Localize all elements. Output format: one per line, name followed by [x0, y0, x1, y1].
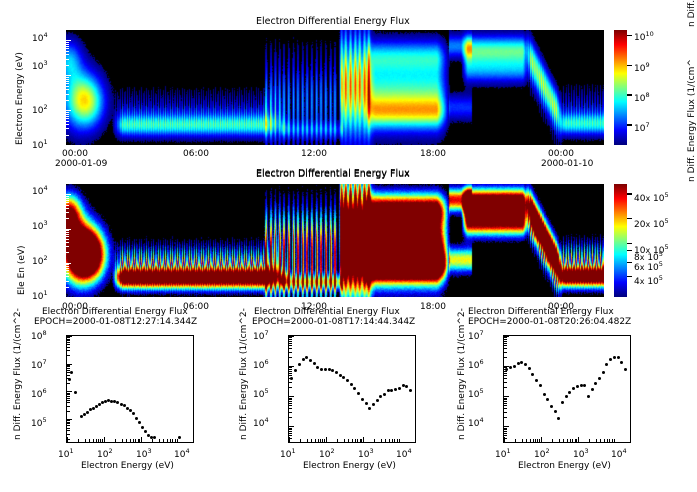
axis-tick [563, 439, 564, 442]
data-point [144, 430, 147, 433]
axis-tick [552, 439, 553, 442]
spectrum-3-subtitle: EPOCH=2000-01-08T20:26:04.482Z [468, 318, 631, 327]
axis-tick [537, 439, 538, 442]
spectrum-3-ytick-7: 107 [468, 330, 484, 342]
colorbar-tick [627, 262, 632, 264]
middle-colorbar [614, 184, 627, 297]
axis-tick [530, 439, 531, 442]
axis-tick [355, 439, 356, 442]
data-point [576, 385, 579, 388]
spectrum-2-subtitle: EPOCH=2000-01-08T17:14:44.344Z [252, 318, 415, 327]
axis-tick [397, 439, 398, 442]
spectrum-1-xtick-4: 104 [174, 448, 190, 460]
data-point [361, 398, 364, 401]
data-point [353, 387, 356, 390]
data-point [376, 399, 379, 402]
axis-tick [289, 408, 292, 409]
colorbar-tick [627, 65, 632, 67]
axis-tick [504, 387, 507, 388]
axis-tick [177, 439, 178, 442]
axis-tick [289, 442, 292, 443]
axis-tick [67, 378, 70, 379]
axis-tick [289, 412, 292, 413]
spectrum-1-ytick-6: 106 [31, 388, 47, 400]
top-xtick-0: 00:00 [62, 150, 88, 159]
data-point [116, 401, 119, 404]
axis-tick [67, 370, 70, 371]
axis-tick [504, 337, 507, 338]
data-point [331, 369, 334, 372]
axis-tick [289, 369, 292, 370]
spectrum-1-title: Electron Differential Energy Flux [42, 308, 188, 317]
top-ytick-3: 103 [32, 60, 48, 72]
data-point [316, 366, 319, 369]
spectrum-2-xtick-1: 101 [280, 448, 296, 460]
spectrum-3-xtick-1: 101 [495, 448, 511, 460]
axis-tick [170, 439, 171, 442]
data-point [583, 384, 586, 387]
axis-tick [67, 391, 72, 392]
data-point [405, 385, 408, 388]
data-point [568, 391, 571, 394]
data-point [554, 410, 557, 413]
spectrum-panel-2: Electron Differential Energy Flux EPOCH=… [232, 300, 464, 492]
axis-tick [67, 398, 70, 399]
data-point [524, 363, 527, 366]
axis-tick [589, 439, 590, 442]
spectrum-2-plot-area [288, 335, 416, 443]
axis-tick [504, 343, 507, 344]
axis-tick [504, 369, 507, 370]
top-xtick-1: 06:00 [183, 150, 209, 159]
top-cbar-tick-8: 108 [634, 92, 650, 104]
top-colorbar-label: n Diff. Energy Flux (1/(cm^ [688, 0, 697, 27]
mid-cbar-tick-40: 40x 105 [634, 192, 669, 204]
data-point [132, 412, 135, 415]
axis-tick [67, 439, 70, 440]
axis-tick [392, 439, 393, 442]
spectrum-1-ytick-5: 105 [31, 417, 47, 429]
axis-tick [67, 430, 70, 431]
data-point [98, 403, 101, 406]
spectrum-3-xtick-2: 102 [534, 448, 550, 460]
axis-tick [67, 347, 70, 348]
axis-tick [357, 439, 358, 442]
axis-tick [600, 439, 601, 442]
axis-tick [163, 439, 164, 442]
axis-tick [289, 382, 292, 383]
data-point [294, 369, 297, 372]
axis-tick [504, 435, 507, 436]
axis-tick [504, 371, 507, 372]
colorbar-tick [627, 124, 632, 126]
axis-tick [67, 342, 70, 343]
colorbar-tick [627, 94, 632, 96]
spectrum-2-ytick-5: 105 [253, 388, 269, 400]
axis-tick [138, 439, 139, 442]
data-point [602, 371, 605, 374]
axis-tick [609, 439, 610, 442]
axis-tick [504, 399, 507, 400]
axis-tick [326, 437, 327, 442]
axis-tick [374, 439, 375, 442]
axis-tick [85, 439, 86, 442]
top-xtick-4: 00:00 [548, 150, 574, 159]
middle-panel-ylabel: Ele En (eV) [18, 245, 27, 295]
spectrum-1-plot-area [66, 335, 194, 443]
data-point [153, 436, 156, 439]
top-ytick-1: 101 [32, 139, 48, 151]
axis-tick [67, 364, 72, 365]
axis-tick [289, 378, 292, 379]
axis-tick [89, 439, 90, 442]
axis-tick [578, 437, 579, 442]
axis-tick [289, 396, 294, 397]
axis-tick [289, 417, 292, 418]
data-point [520, 361, 523, 364]
axis-tick [289, 336, 294, 337]
data-point [546, 398, 549, 401]
data-point [565, 395, 568, 398]
axis-tick [504, 429, 507, 430]
spectrum-3-ytick-5: 105 [468, 388, 484, 400]
axis-tick [67, 344, 70, 345]
top-spectrogram-image [66, 30, 604, 145]
top-colorbar [614, 30, 627, 145]
axis-tick [504, 339, 507, 340]
data-point [383, 393, 386, 396]
axis-tick [289, 435, 292, 436]
axis-tick [67, 350, 70, 351]
data-point [557, 417, 560, 420]
axis-tick [504, 345, 507, 346]
data-point [320, 368, 323, 371]
top-cbar-tick-10: 1010 [634, 31, 654, 43]
colorbar-tick [627, 243, 632, 245]
data-point [74, 391, 77, 394]
spectrum-1-ytick-7: 107 [31, 359, 47, 371]
data-point [368, 407, 371, 410]
data-point [543, 393, 546, 396]
axis-tick [526, 439, 527, 442]
axis-tick [504, 403, 507, 404]
axis-tick [67, 337, 70, 338]
axis-tick [289, 387, 292, 388]
axis-tick [67, 400, 70, 401]
axis-tick [67, 428, 70, 429]
axis-tick [318, 439, 319, 442]
axis-tick [175, 439, 176, 442]
axis-tick [504, 433, 507, 434]
spectrum-3-xtick-3: 103 [573, 448, 589, 460]
top-panel-ylabel: Electron Energy (eV) [16, 52, 25, 145]
axis-tick [394, 439, 395, 442]
axis-tick [67, 422, 70, 423]
axis-tick [385, 439, 386, 442]
axis-tick [504, 336, 509, 337]
axis-tick [67, 423, 70, 424]
axis-tick [289, 352, 292, 353]
spectrum-3-plot-area [503, 335, 631, 443]
spectrum-1-ytick-8: 108 [31, 330, 47, 342]
axis-tick [152, 439, 153, 442]
axis-tick [533, 439, 534, 442]
axis-tick [504, 405, 507, 406]
top-cbar-tick-7: 107 [634, 122, 650, 134]
data-point [70, 371, 73, 374]
axis-tick [504, 438, 507, 439]
middle-colorbar-label: n Diff. Energy Flux (1/(cm^ [688, 59, 697, 182]
axis-tick [535, 439, 536, 442]
data-point [302, 358, 305, 361]
axis-tick [289, 337, 292, 338]
axis-tick [126, 439, 127, 442]
data-point [387, 389, 390, 392]
spectrum-2-xtick-2: 102 [319, 448, 335, 460]
data-point [598, 377, 601, 380]
data-point [394, 388, 397, 391]
middle-spectrogram-image [66, 184, 604, 297]
axis-tick [315, 439, 316, 442]
axis-tick [504, 408, 507, 409]
axis-tick [67, 375, 70, 376]
spectrum-2-ytick-7: 107 [253, 330, 269, 342]
data-point [135, 417, 138, 420]
axis-tick [389, 439, 390, 442]
colorbar-tick [627, 218, 632, 220]
spectrum-1-xlabel: Electron Energy (eV) [81, 462, 174, 471]
axis-tick [504, 357, 507, 358]
spectrum-1-xtick-1: 101 [58, 448, 74, 460]
spectrum-panel-3: Electron Differential Energy Flux EPOCH=… [456, 300, 697, 492]
data-point [528, 367, 531, 370]
axis-tick [504, 375, 507, 376]
data-point [357, 392, 360, 395]
axis-tick [575, 439, 576, 442]
axis-tick [289, 367, 292, 368]
axis-tick [289, 399, 292, 400]
axis-tick [67, 402, 70, 403]
colorbar-tick [627, 193, 632, 195]
axis-tick [559, 439, 560, 442]
spectrum-2-ytick-6: 106 [253, 359, 269, 371]
axis-tick [289, 366, 294, 367]
data-point [580, 384, 583, 387]
spectrum-2-xlabel: Electron Energy (eV) [303, 462, 396, 471]
axis-tick [289, 348, 292, 349]
axis-tick [352, 439, 353, 442]
top-ytick-2: 102 [32, 104, 48, 116]
data-point [620, 361, 623, 364]
axis-tick [67, 434, 70, 435]
data-point [594, 382, 597, 385]
axis-tick [614, 439, 615, 442]
axis-tick [67, 339, 70, 340]
axis-tick [348, 439, 349, 442]
data-point [561, 401, 564, 404]
data-point [398, 387, 401, 390]
axis-tick [67, 365, 70, 366]
spectrum-1-ylabel: n Diff. Energy Flux (1/(cm^2- [14, 308, 23, 440]
axis-tick [572, 439, 573, 442]
axis-tick [289, 401, 292, 402]
colorbar-tick [627, 35, 632, 37]
axis-tick [96, 439, 97, 442]
axis-tick [320, 439, 321, 442]
data-point [350, 383, 353, 386]
axis-tick [289, 431, 292, 432]
spectrum-3-ylabel: n Diff. Energy Flux (1/(cm^2- [458, 308, 467, 440]
data-point [86, 411, 89, 414]
mid-cbar-tick-20: 20x 105 [634, 218, 669, 230]
data-point [390, 389, 393, 392]
axis-tick [289, 428, 292, 429]
data-point [80, 415, 83, 418]
axis-tick [67, 411, 70, 412]
axis-tick [289, 403, 292, 404]
data-point [138, 421, 141, 424]
mid-ytick-4: 104 [32, 185, 48, 197]
axis-tick [100, 439, 101, 442]
axis-tick [289, 371, 292, 372]
data-point [550, 405, 553, 408]
axis-tick [541, 437, 542, 442]
axis-tick [504, 401, 507, 402]
data-point [141, 426, 144, 429]
axis-tick [172, 439, 173, 442]
axis-tick [596, 439, 597, 442]
axis-tick [504, 396, 509, 397]
axis-tick [504, 348, 507, 349]
axis-tick [344, 439, 345, 442]
axis-tick [67, 372, 70, 373]
spectrum-2-xtick-3: 103 [358, 448, 374, 460]
axis-tick [300, 439, 301, 442]
top-ytick-4: 104 [32, 32, 48, 44]
data-point [517, 362, 520, 365]
axis-tick [612, 439, 613, 442]
axis-tick [67, 393, 70, 394]
axis-tick [159, 439, 160, 442]
axis-tick [504, 352, 507, 353]
mid-cbar-tick-6: 6x 105 [634, 261, 663, 273]
axis-tick [289, 357, 292, 358]
data-point [335, 371, 338, 374]
axis-tick [289, 373, 292, 374]
data-point [305, 356, 308, 359]
axis-tick [504, 426, 509, 427]
axis-tick [67, 336, 72, 337]
axis-tick [67, 425, 70, 426]
axis-tick [322, 439, 323, 442]
data-point [372, 403, 375, 406]
axis-tick [360, 439, 361, 442]
data-point [339, 374, 342, 377]
axis-tick [307, 439, 308, 442]
axis-tick [289, 433, 292, 434]
axis-tick [289, 398, 292, 399]
axis-tick [289, 426, 294, 427]
data-point [324, 368, 327, 371]
axis-tick [67, 394, 70, 395]
axis-tick [504, 367, 507, 368]
axis-tick [504, 412, 507, 413]
axis-tick [67, 383, 70, 384]
data-point [609, 358, 612, 361]
spectrum-2-title: Electron Differential Energy Flux [254, 308, 400, 317]
spectrum-3-ytick-4: 104 [468, 417, 484, 429]
data-point [587, 395, 590, 398]
axis-tick [289, 341, 292, 342]
data-point [298, 363, 301, 366]
axis-tick [167, 439, 168, 442]
spectrum-3-xlabel: Electron Energy (eV) [518, 462, 611, 471]
axis-tick [504, 378, 507, 379]
top-cbar-tick-9: 109 [634, 62, 650, 74]
axis-tick [381, 439, 382, 442]
axis-tick [604, 439, 605, 442]
data-point [613, 356, 616, 359]
axis-tick [115, 439, 116, 442]
data-point [605, 363, 608, 366]
spectrum-panel-1: Electron Differential Energy Flux EPOCH=… [0, 300, 232, 492]
axis-tick [504, 373, 507, 374]
axis-tick [104, 437, 105, 442]
axis-tick [289, 438, 292, 439]
data-point [365, 402, 368, 405]
spectrum-1-subtitle: EPOCH=2000-01-08T12:27:14.344Z [34, 318, 197, 327]
data-point [513, 365, 516, 368]
axis-tick [93, 439, 94, 442]
axis-tick [337, 439, 338, 442]
axis-tick [67, 406, 70, 407]
axis-tick [289, 345, 292, 346]
data-point [346, 379, 349, 382]
axis-tick [289, 405, 292, 406]
top-xtick-3: 18:00 [420, 150, 446, 159]
axis-tick [607, 439, 608, 442]
data-point [409, 389, 412, 392]
axis-tick [67, 340, 70, 341]
axis-tick [504, 428, 507, 429]
axis-tick [289, 375, 292, 376]
spectrum-3-xtick-4: 104 [611, 448, 627, 460]
axis-tick [78, 439, 79, 442]
data-point [402, 384, 405, 387]
axis-tick [515, 439, 516, 442]
spectrum-2-xtick-4: 104 [396, 448, 412, 460]
axis-tick [289, 343, 292, 344]
axis-tick [289, 429, 292, 430]
spectrum-1-xtick-3: 103 [136, 448, 152, 460]
axis-tick [130, 439, 131, 442]
axis-tick [141, 437, 142, 442]
data-point [309, 359, 312, 362]
data-point [591, 388, 594, 391]
top-xtick-2: 12:00 [301, 150, 327, 159]
data-point [379, 395, 382, 398]
axis-tick [570, 439, 571, 442]
data-point [617, 356, 620, 359]
top-panel-title: Electron Differential Energy Flux [256, 16, 410, 27]
colorbar-tick [627, 276, 632, 278]
axis-tick [67, 396, 70, 397]
data-point [342, 376, 345, 379]
mid-ytick-3: 103 [32, 220, 48, 232]
data-point [328, 368, 331, 371]
axis-tick [567, 439, 568, 442]
middle-spectrogram-panel: Electron Differential Energy Flux Ele En… [0, 160, 697, 310]
